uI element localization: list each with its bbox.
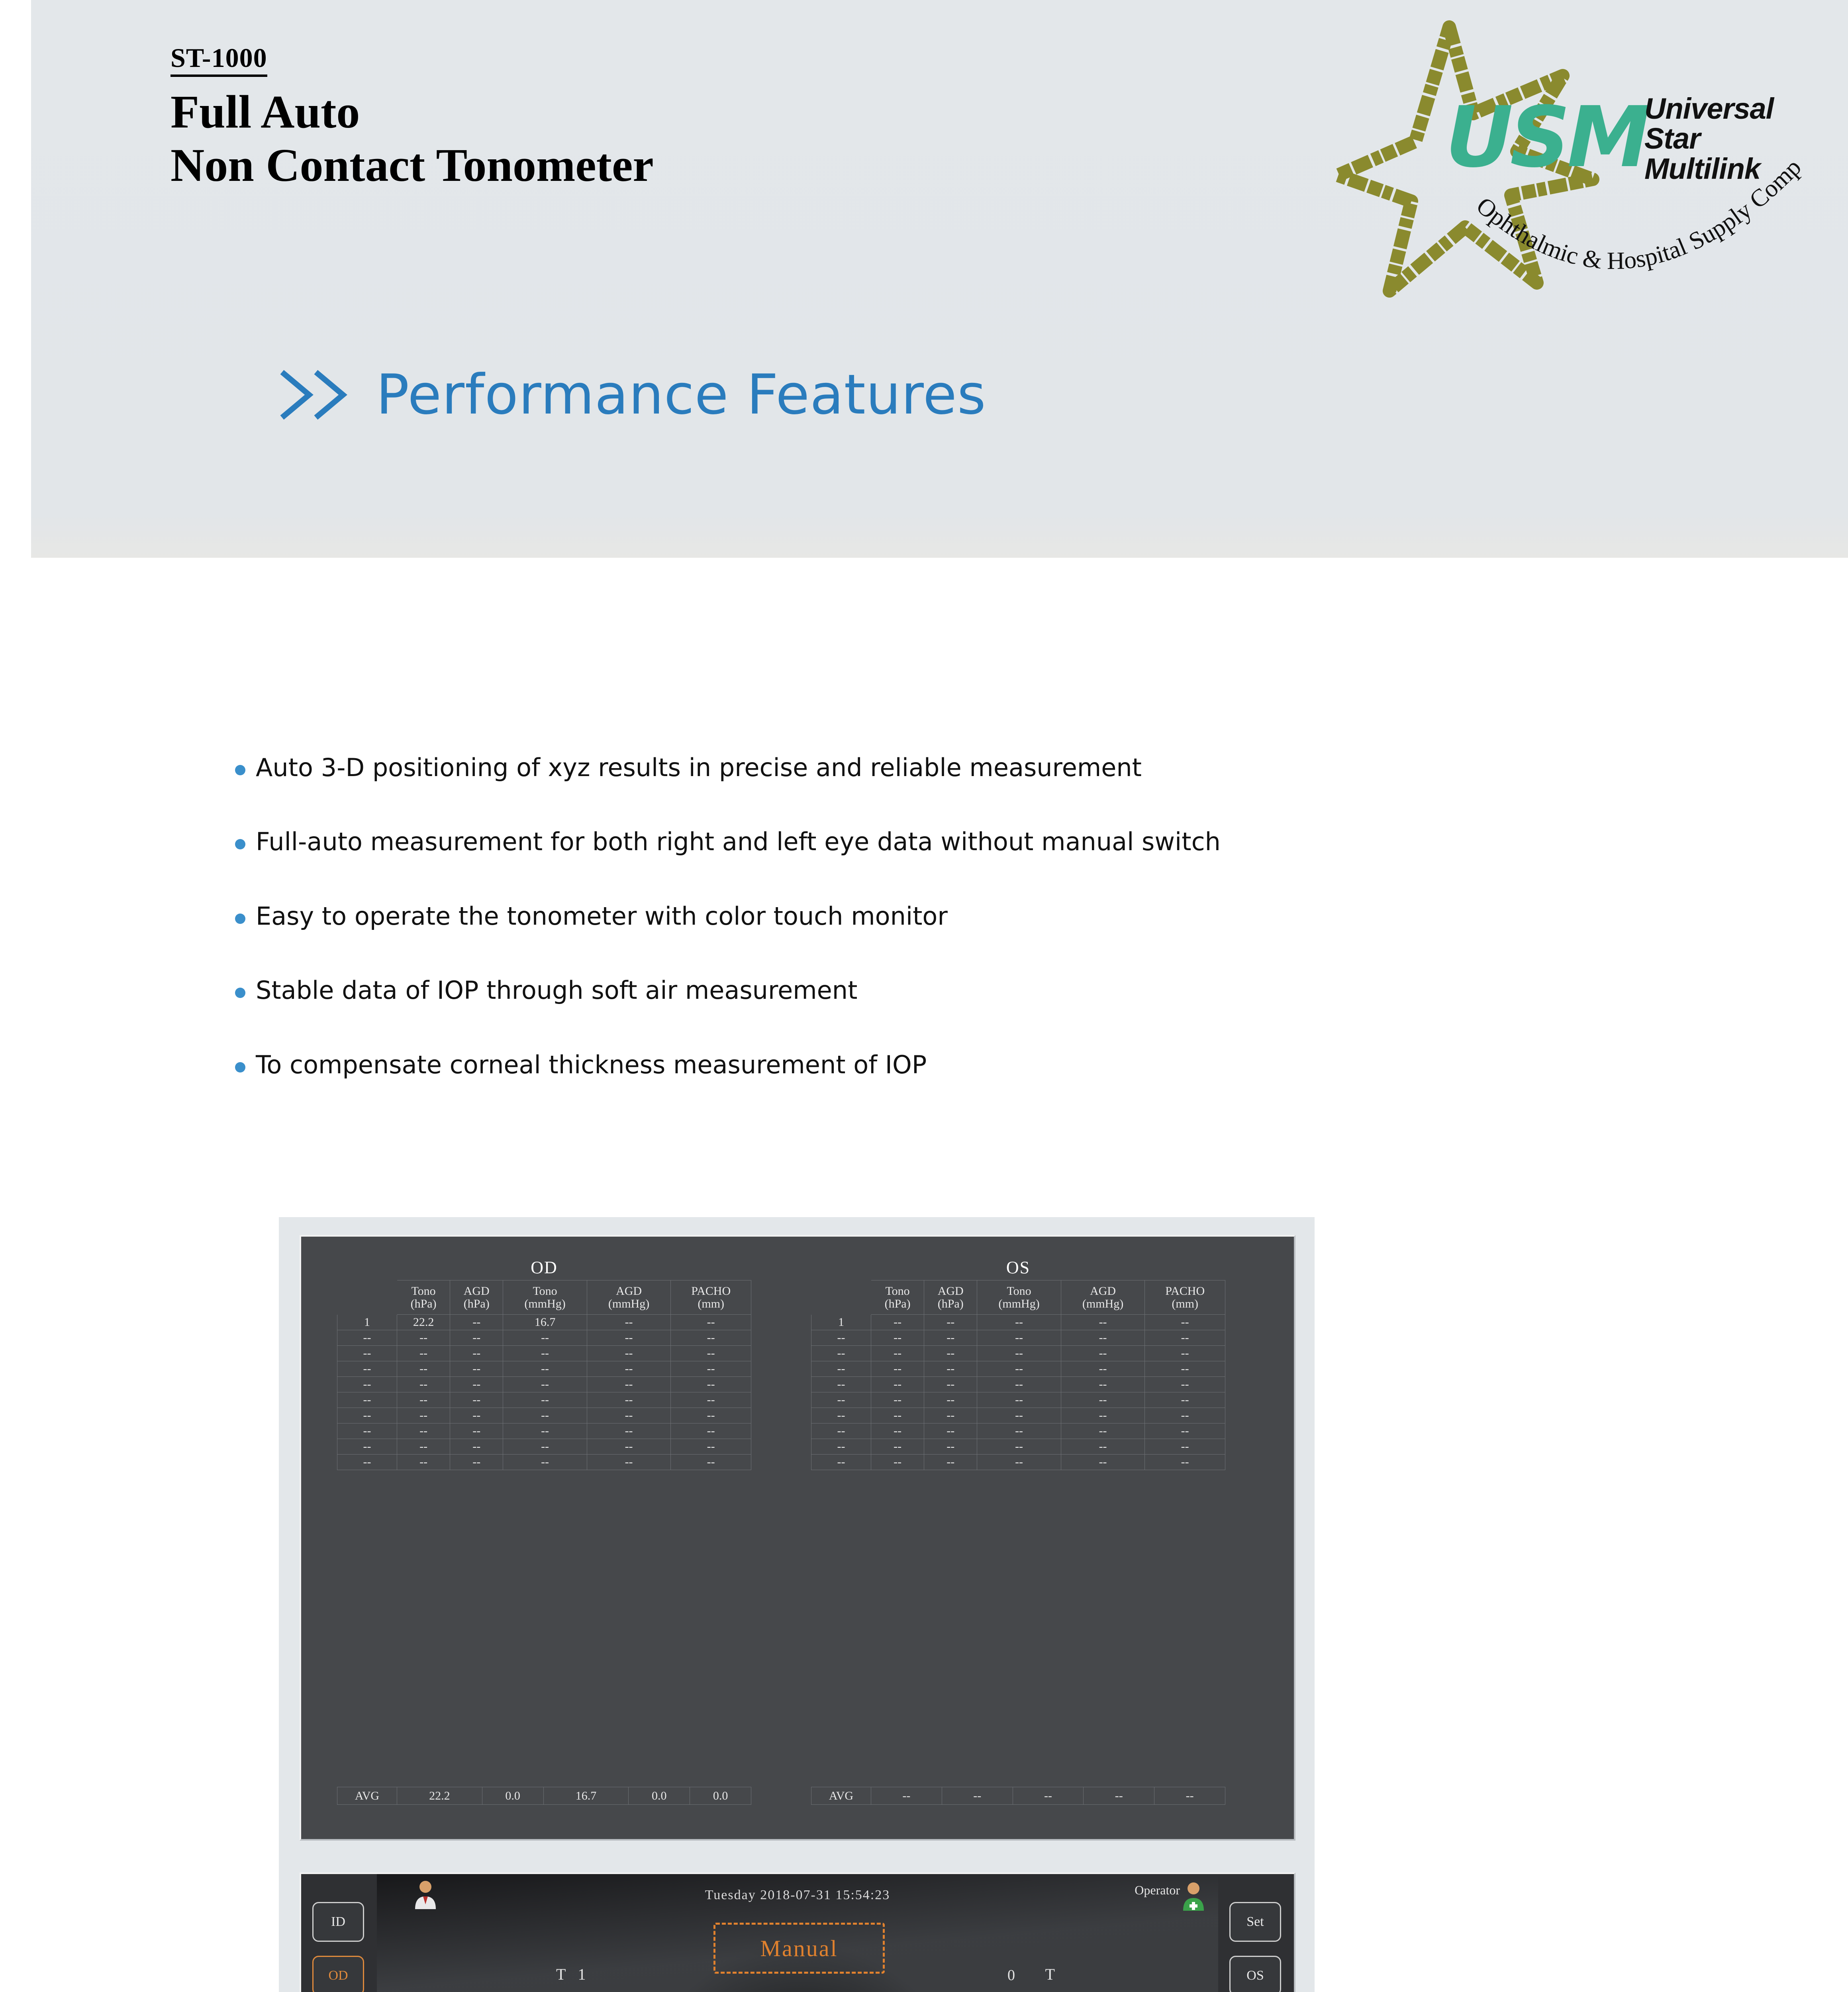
data-cell: -- [871, 1361, 924, 1377]
data-cell: -- [397, 1439, 450, 1455]
header-band: ST-1000 Full Auto Non Contact Tonometer … [31, 0, 1848, 558]
avg-cell: -- [871, 1787, 942, 1805]
row-index: -- [337, 1408, 397, 1423]
data-cell: -- [397, 1423, 450, 1439]
row-index: -- [811, 1346, 871, 1361]
data-cell: -- [1145, 1439, 1225, 1455]
col-header: Tono(hPa) [871, 1280, 924, 1315]
table-row: ------------ [337, 1455, 751, 1470]
data-cell: -- [450, 1455, 503, 1470]
os-average-table: AVG -- -- -- -- -- [811, 1787, 1225, 1805]
bullet-icon [235, 914, 245, 924]
index-header [337, 1280, 397, 1315]
left-control-column: ID OD Close Pack [301, 1874, 377, 1992]
feature-text: To compensate corneal thickness measurem… [256, 1050, 927, 1080]
row-index: -- [811, 1439, 871, 1455]
data-cell: -- [1145, 1330, 1225, 1346]
od-measurement-table: Tono(hPa) AGD(hPa) Tono(mmHg) AGD(mmHg) … [337, 1280, 751, 1470]
title-block: ST-1000 Full Auto Non Contact Tonometer [170, 44, 654, 193]
measurement-data-screen: OD Tono(hPa) AGD(hPa) Tono(mmHg) AGD(mmH… [300, 1235, 1295, 1841]
table-row: 122.2--16.7---- [337, 1315, 751, 1330]
data-cell: -- [871, 1346, 924, 1361]
table-row: ------------ [811, 1455, 1225, 1470]
list-item: To compensate corneal thickness measurem… [235, 1050, 1709, 1080]
data-cell: -- [671, 1377, 751, 1392]
section-heading: Performance Features [278, 363, 986, 427]
data-cell: -- [397, 1346, 450, 1361]
data-cell: -- [503, 1408, 587, 1423]
data-cell: -- [397, 1361, 450, 1377]
list-item: Easy to operate the tonometer with color… [235, 902, 1709, 931]
list-item: Full-auto measurement for both right and… [235, 827, 1709, 857]
data-cell: -- [977, 1330, 1061, 1346]
data-cell: -- [503, 1330, 587, 1346]
table-row: ------------ [811, 1361, 1225, 1377]
table-row: ------------ [337, 1330, 751, 1346]
data-cell: -- [450, 1315, 503, 1330]
data-cell: -- [1061, 1330, 1145, 1346]
operator-icon [1181, 1881, 1206, 1911]
data-cell: 16.7 [503, 1315, 587, 1330]
usm-logo: USM Universal Star Multilink Ophthalmic … [1330, 12, 1808, 323]
data-cell: -- [1061, 1423, 1145, 1439]
data-cell: -- [924, 1439, 977, 1455]
bullet-icon [235, 988, 245, 998]
usm-tagline-text: Ophthalmic & Hospital Supply Company [1461, 143, 1807, 274]
data-cell: -- [871, 1330, 924, 1346]
row-index: -- [337, 1455, 397, 1470]
row-index: 1 [337, 1315, 397, 1330]
data-cell: -- [450, 1377, 503, 1392]
data-cell: -- [587, 1361, 671, 1377]
data-cell: -- [587, 1408, 671, 1423]
data-cell: -- [450, 1392, 503, 1408]
section-title: Performance Features [376, 363, 986, 427]
data-cell: -- [587, 1423, 671, 1439]
os-measurement-table: Tono(hPa) AGD(hPa) Tono(mmHg) AGD(mmHg) … [811, 1280, 1225, 1470]
usm-name-line1: Universal [1644, 94, 1774, 124]
table-row: ------------ [811, 1392, 1225, 1408]
data-cell: -- [671, 1423, 751, 1439]
data-cell: -- [924, 1377, 977, 1392]
data-cell: -- [503, 1346, 587, 1361]
data-cell: -- [503, 1455, 587, 1470]
double-chevron-icon [278, 365, 354, 425]
data-cell: -- [977, 1361, 1061, 1377]
avg-cell: -- [1013, 1787, 1084, 1805]
od-table-block: OD Tono(hPa) AGD(hPa) Tono(mmHg) AGD(mmH… [337, 1257, 751, 1470]
bullet-icon [235, 839, 245, 849]
data-cell: -- [977, 1392, 1061, 1408]
data-cell: -- [587, 1392, 671, 1408]
mode-badge[interactable]: Manual [713, 1923, 885, 1974]
row-index: -- [337, 1423, 397, 1439]
data-cell: -- [671, 1392, 751, 1408]
col-header: Tono(mmHg) [977, 1280, 1061, 1315]
col-header: Tono(hPa) [397, 1280, 450, 1315]
data-cell: -- [871, 1392, 924, 1408]
data-cell: -- [503, 1377, 587, 1392]
avg-cell: -- [942, 1787, 1013, 1805]
data-cell: -- [1145, 1377, 1225, 1392]
usm-tagline-arc: Ophthalmic & Hospital Supply Company [1461, 143, 1808, 311]
row-index: -- [811, 1455, 871, 1470]
table-row: ------------ [811, 1346, 1225, 1361]
row-index: 1 [811, 1315, 871, 1330]
table-row: ------------ [811, 1377, 1225, 1392]
data-cell: -- [1061, 1408, 1145, 1423]
table-row: ------------ [337, 1361, 751, 1377]
data-cell: -- [397, 1392, 450, 1408]
row-index: -- [811, 1423, 871, 1439]
data-cell: -- [450, 1423, 503, 1439]
data-cell: 22.2 [397, 1315, 450, 1330]
data-cell: -- [1061, 1315, 1145, 1330]
bullet-icon [235, 1062, 245, 1072]
data-cell: -- [587, 1315, 671, 1330]
table-row: ------------ [337, 1439, 751, 1455]
od-average-row-wrap: AVG 22.2 0.0 16.7 0.0 0.0 [337, 1787, 751, 1805]
product-title-line2: Non Contact Tonometer [170, 137, 654, 193]
table-row: ------------ [811, 1439, 1225, 1455]
row-index: -- [811, 1408, 871, 1423]
data-cell: -- [977, 1439, 1061, 1455]
data-cell: -- [671, 1361, 751, 1377]
data-cell: -- [871, 1408, 924, 1423]
table-row: AVG 22.2 0.0 16.7 0.0 0.0 [337, 1787, 751, 1805]
row-index: -- [337, 1346, 397, 1361]
od-title: OD [337, 1257, 751, 1278]
data-cell: -- [397, 1408, 450, 1423]
left-t-marker: T 1 [556, 1965, 586, 1984]
col-header: PACHO(mm) [1145, 1280, 1225, 1315]
id-button[interactable]: ID [312, 1902, 364, 1942]
data-cell: -- [671, 1330, 751, 1346]
col-header: AGD(mmHg) [1061, 1280, 1145, 1315]
avg-cell: 0.0 [482, 1787, 543, 1805]
data-cell: -- [503, 1439, 587, 1455]
os-eye-button[interactable]: OS [1229, 1956, 1281, 1992]
data-cell: -- [977, 1315, 1061, 1330]
feature-text: Auto 3-D positioning of xyz results in p… [256, 753, 1142, 782]
avg-label: AVG [811, 1787, 871, 1805]
table-row: 1---------- [811, 1315, 1225, 1330]
os-title: OS [811, 1257, 1225, 1278]
operator-label: Operator [1135, 1883, 1180, 1898]
table-row: ------------ [337, 1423, 751, 1439]
data-cell: -- [1061, 1392, 1145, 1408]
camera-overlay: Tuesday 2018-07-31 15:54:23 Operator ID … [301, 1874, 1294, 1992]
avg-cell: 22.2 [397, 1787, 482, 1805]
right-count-value: 0 [1007, 1967, 1015, 1984]
data-cell: -- [977, 1423, 1061, 1439]
data-cell: -- [587, 1439, 671, 1455]
data-cell: -- [1061, 1346, 1145, 1361]
data-cell: -- [503, 1392, 587, 1408]
row-index: -- [337, 1439, 397, 1455]
list-item: Auto 3-D positioning of xyz results in p… [235, 753, 1709, 782]
data-cell: -- [503, 1423, 587, 1439]
data-cell: -- [671, 1455, 751, 1470]
col-header: AGD(hPa) [924, 1280, 977, 1315]
avg-cell: 0.0 [690, 1787, 751, 1805]
data-cell: -- [977, 1408, 1061, 1423]
data-cell: -- [671, 1315, 751, 1330]
data-cell: -- [924, 1423, 977, 1439]
data-cell: -- [397, 1330, 450, 1346]
table-row: ------------ [811, 1408, 1225, 1423]
feature-text: Full-auto measurement for both right and… [256, 827, 1221, 857]
right-t-marker: T [1045, 1965, 1055, 1984]
data-cell: -- [871, 1315, 924, 1330]
od-eye-button[interactable]: OD [312, 1956, 364, 1992]
data-cell: -- [587, 1455, 671, 1470]
data-cell: -- [924, 1361, 977, 1377]
data-cell: -- [671, 1346, 751, 1361]
data-cell: -- [587, 1377, 671, 1392]
data-cell: -- [924, 1408, 977, 1423]
data-cell: -- [1145, 1346, 1225, 1361]
data-cell: -- [977, 1377, 1061, 1392]
row-index: -- [811, 1330, 871, 1346]
row-index: -- [337, 1361, 397, 1377]
table-row: ------------ [337, 1377, 751, 1392]
data-cell: -- [450, 1408, 503, 1423]
data-cell: -- [1145, 1423, 1225, 1439]
table-row: AVG -- -- -- -- -- [811, 1787, 1225, 1805]
table-header-row: Tono(hPa) AGD(hPa) Tono(mmHg) AGD(mmHg) … [337, 1280, 751, 1315]
data-cell: -- [450, 1361, 503, 1377]
data-cell: -- [450, 1330, 503, 1346]
product-title-line1: Full Auto [170, 84, 654, 139]
data-cell: -- [1145, 1392, 1225, 1408]
patient-icon [413, 1880, 438, 1909]
data-cell: -- [924, 1315, 977, 1330]
data-cell: -- [671, 1408, 751, 1423]
data-cell: -- [924, 1330, 977, 1346]
col-header: PACHO(mm) [671, 1280, 751, 1315]
data-cell: -- [397, 1455, 450, 1470]
table-row: ------------ [337, 1408, 751, 1423]
data-cell: -- [587, 1330, 671, 1346]
avg-cell: 16.7 [543, 1787, 629, 1805]
data-cell: -- [977, 1455, 1061, 1470]
row-index: -- [337, 1377, 397, 1392]
col-header: Tono(mmHg) [503, 1280, 587, 1315]
feature-text: Easy to operate the tonometer with color… [256, 902, 948, 931]
data-cell: -- [503, 1361, 587, 1377]
feature-text: Stable data of IOP through soft air meas… [256, 976, 857, 1005]
table-header-row: Tono(hPa) AGD(hPa) Tono(mmHg) AGD(mmHg) … [811, 1280, 1225, 1315]
data-cell: -- [871, 1455, 924, 1470]
avg-label: AVG [337, 1787, 397, 1805]
data-cell: -- [924, 1455, 977, 1470]
data-cell: -- [587, 1346, 671, 1361]
data-cell: -- [1145, 1361, 1225, 1377]
data-cell: -- [1145, 1408, 1225, 1423]
left-iop-value: 16.7 [576, 1989, 606, 1992]
data-cell: -- [924, 1392, 977, 1408]
od-table-body: 122.2--16.7-----------------------------… [337, 1315, 751, 1470]
table-row: ------------ [811, 1330, 1225, 1346]
list-item: Stable data of IOP through soft air meas… [235, 976, 1709, 1005]
row-index: -- [337, 1392, 397, 1408]
data-cell: -- [1061, 1361, 1145, 1377]
model-number: ST-1000 [170, 44, 267, 77]
col-header: AGD(hPa) [450, 1280, 503, 1315]
col-header: AGD(mmHg) [587, 1280, 671, 1315]
data-cell: -- [397, 1377, 450, 1392]
data-cell: -- [977, 1346, 1061, 1361]
svg-text:Ophthalmic & Hospital Supply C: Ophthalmic & Hospital Supply Company [1461, 143, 1807, 274]
os-average-row-wrap: AVG -- -- -- -- -- [811, 1787, 1225, 1805]
data-cell: -- [1061, 1377, 1145, 1392]
data-cell: -- [671, 1439, 751, 1455]
data-cell: -- [871, 1377, 924, 1392]
index-header [811, 1280, 871, 1315]
row-index: -- [811, 1392, 871, 1408]
table-row: ------------ [337, 1346, 751, 1361]
data-cell: -- [450, 1439, 503, 1455]
avg-cell: -- [1154, 1787, 1225, 1805]
data-cell: -- [1145, 1315, 1225, 1330]
features-list: Auto 3-D positioning of xyz results in p… [235, 753, 1709, 1124]
data-cell: -- [450, 1346, 503, 1361]
camera-control-screen: Tuesday 2018-07-31 15:54:23 Operator ID … [300, 1872, 1295, 1992]
bullet-icon [235, 765, 245, 775]
row-index: -- [811, 1377, 871, 1392]
avg-cell: 0.0 [629, 1787, 690, 1805]
right-control-column: Set OS Safety Stop [1218, 1874, 1294, 1992]
data-cell: -- [924, 1346, 977, 1361]
row-index: -- [337, 1330, 397, 1346]
avg-cell: -- [1084, 1787, 1154, 1805]
os-table-body: 1---------------------------------------… [811, 1315, 1225, 1470]
data-cell: -- [871, 1439, 924, 1455]
data-cell: -- [1061, 1455, 1145, 1470]
data-cell: -- [1061, 1439, 1145, 1455]
data-cell: -- [1145, 1455, 1225, 1470]
table-row: ------------ [337, 1392, 751, 1408]
data-cell: -- [871, 1423, 924, 1439]
os-table-block: OS Tono(hPa) AGD(hPa) Tono(mmHg) AGD(mmH… [811, 1257, 1225, 1470]
table-row: ------------ [811, 1423, 1225, 1439]
set-button[interactable]: Set [1229, 1902, 1281, 1942]
od-average-table: AVG 22.2 0.0 16.7 0.0 0.0 [337, 1787, 751, 1805]
row-index: -- [811, 1361, 871, 1377]
